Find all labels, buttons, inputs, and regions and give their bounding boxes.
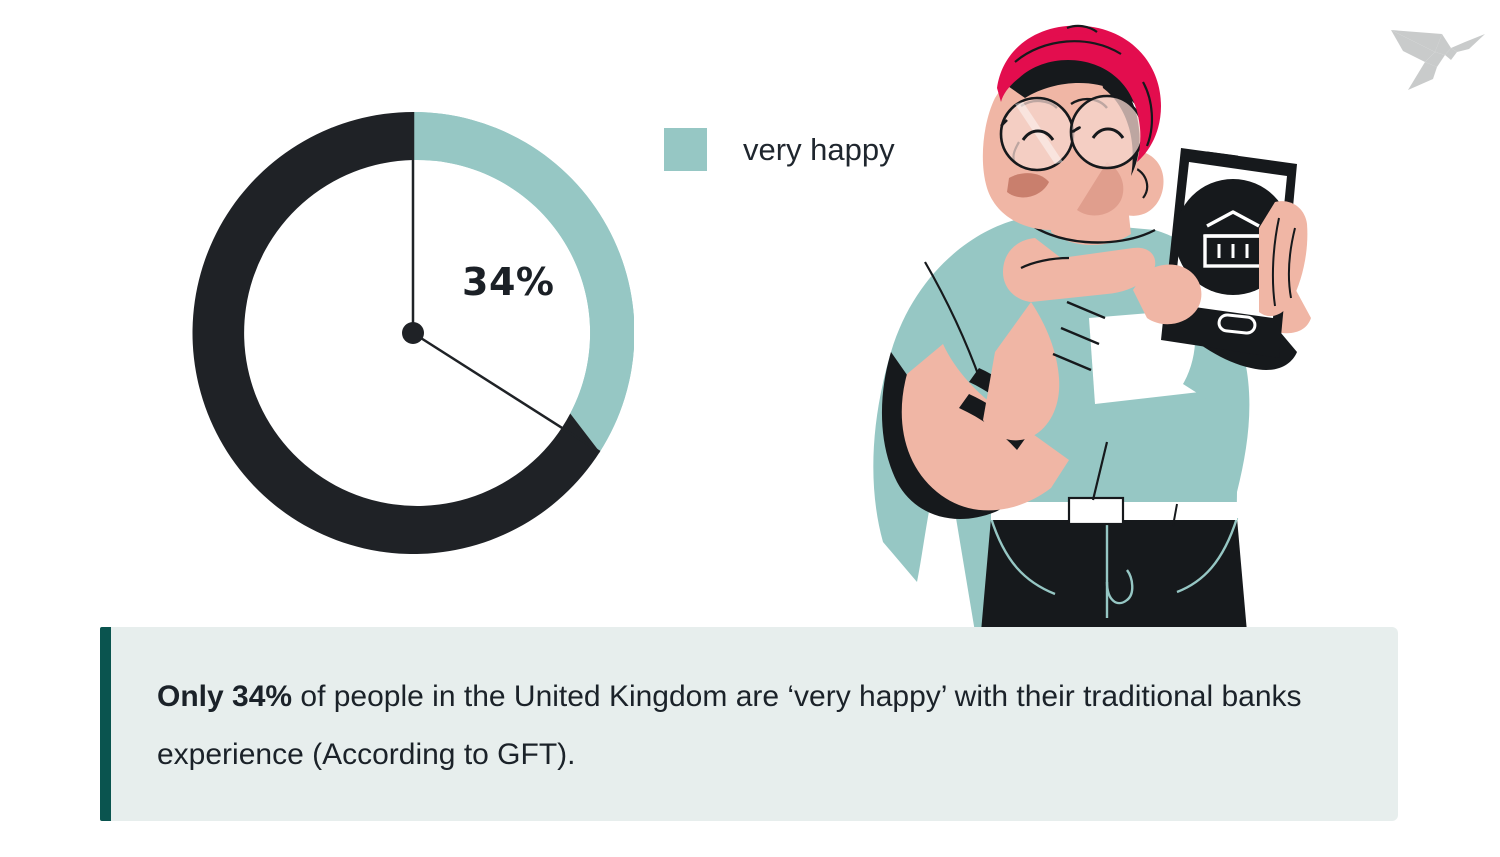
trousers-icon <box>981 518 1247 632</box>
callout-text: Only 34% of people in the United Kingdom… <box>157 668 1357 784</box>
legend-swatch-very-happy <box>664 128 707 171</box>
chart-percent-label: 34% <box>462 260 554 304</box>
chart-leader-line-slice <box>413 333 600 452</box>
chart-center-dot <box>402 322 424 344</box>
origami-bird-logo <box>1389 18 1487 92</box>
callout-bold-lead: Only 34% <box>157 680 292 713</box>
person-holding-phone-illustration <box>855 22 1325 632</box>
infographic-canvas: 34% very happy <box>0 0 1500 857</box>
donut-chart <box>192 112 634 554</box>
head-icon <box>983 26 1164 230</box>
callout-accent-bar <box>100 627 111 821</box>
callout-rest: of people in the United Kingdom are ‘ver… <box>157 680 1302 771</box>
